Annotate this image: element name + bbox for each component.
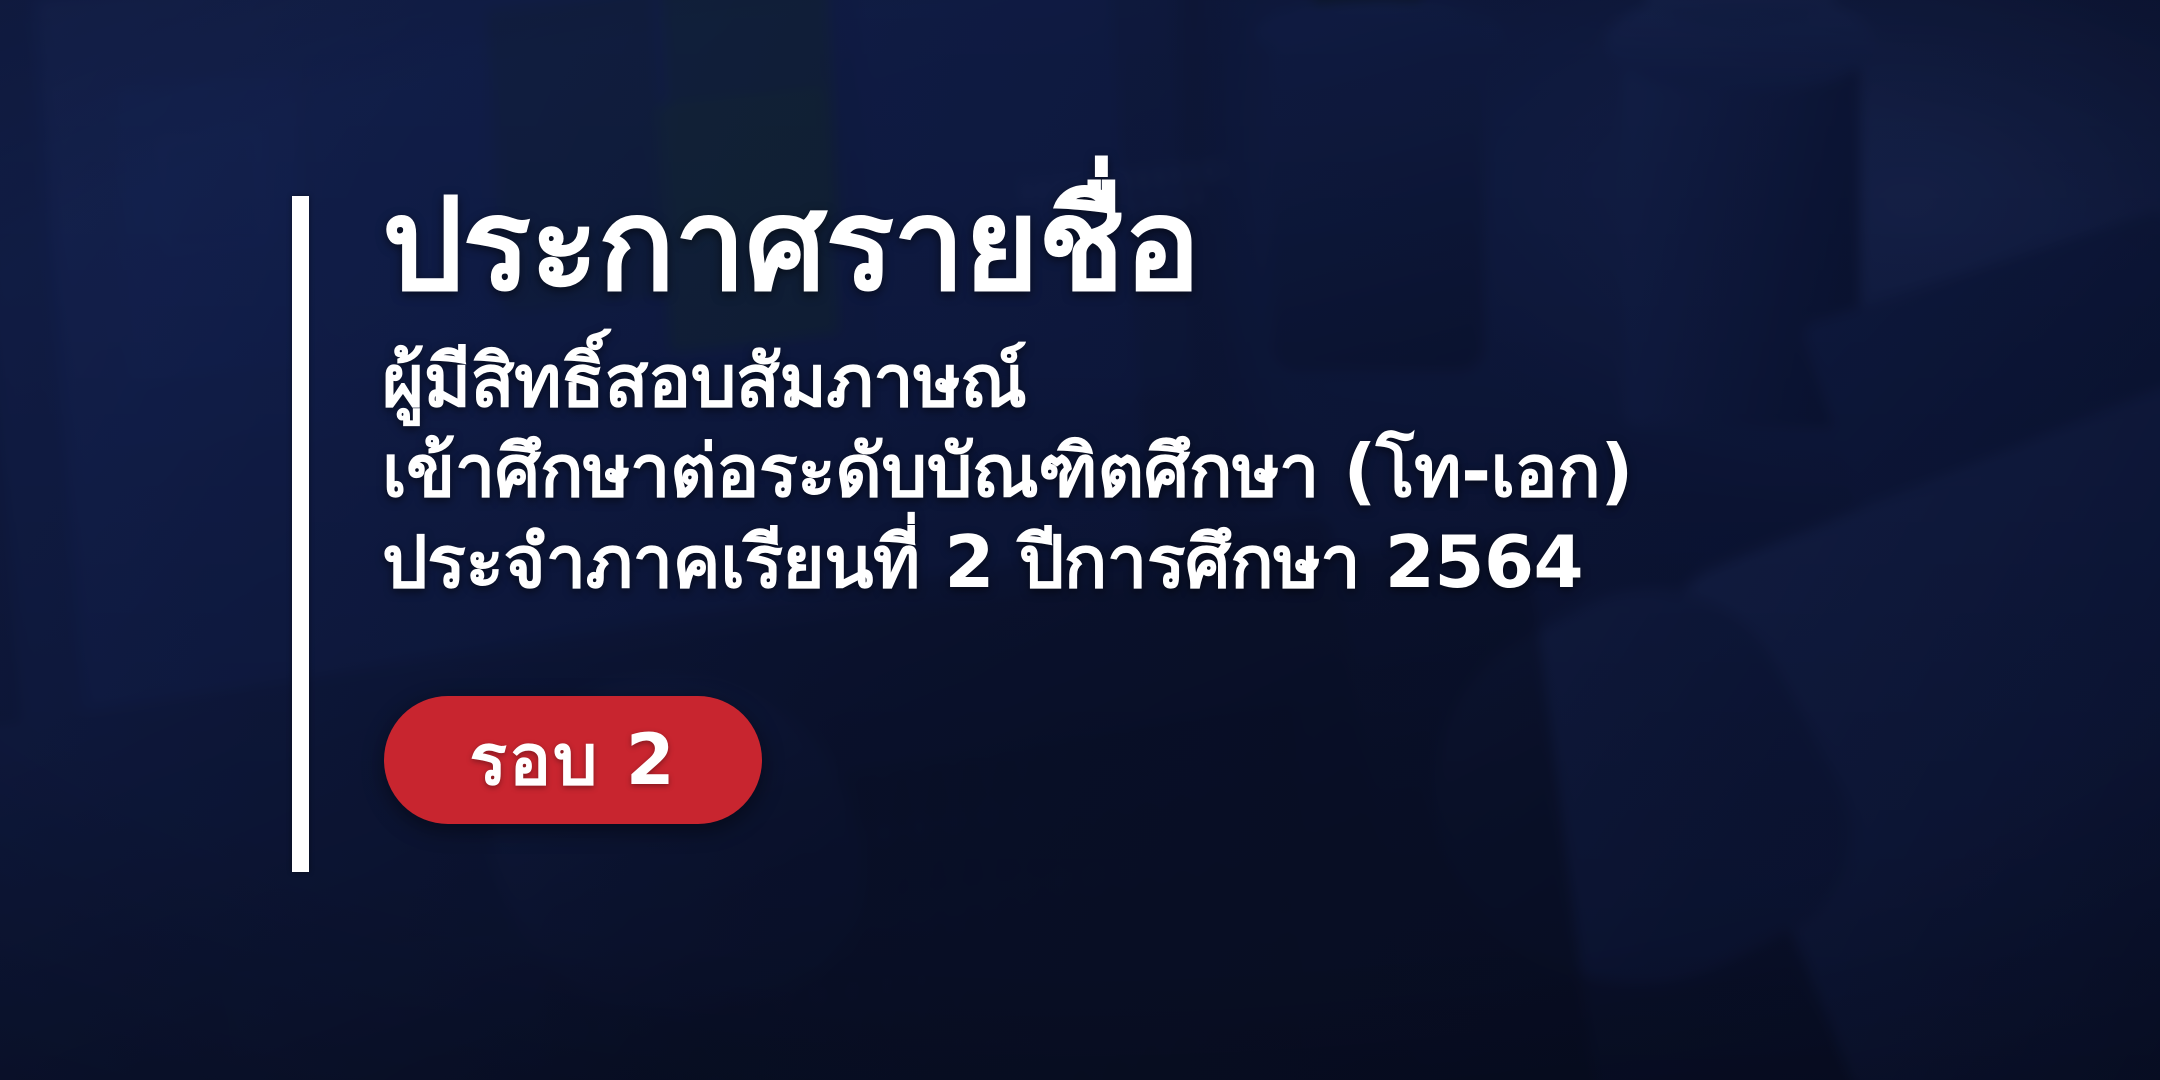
banner-content: ประกาศรายชื่อ ผู้มีสิทธิ์สอบสัมภาษณ์ เข้… — [292, 196, 2052, 896]
announcement-banner: ประกาศรายชื่อ ผู้มีสิทธิ์สอบสัมภาษณ์ เข้… — [0, 0, 2160, 1080]
subtitle-line-3: ประจำภาคเรียนที่ 2 ปีการศึกษา 2564 — [382, 517, 2042, 608]
subtitle-line-2: เข้าศึกษาต่อระดับบัณฑิตศึกษา (โท-เอก) — [382, 426, 2042, 517]
announcement-text-block: ประกาศรายชื่อ ผู้มีสิทธิ์สอบสัมภาษณ์ เข้… — [382, 178, 2042, 608]
round-badge: รอบ 2 — [384, 696, 762, 824]
subtitle-line-1: ผู้มีสิทธิ์สอบสัมภาษณ์ — [382, 336, 2042, 427]
vertical-accent-rule — [292, 196, 309, 872]
round-badge-label: รอบ 2 — [469, 725, 676, 795]
page-title: ประกาศรายชื่อ — [382, 178, 2042, 314]
